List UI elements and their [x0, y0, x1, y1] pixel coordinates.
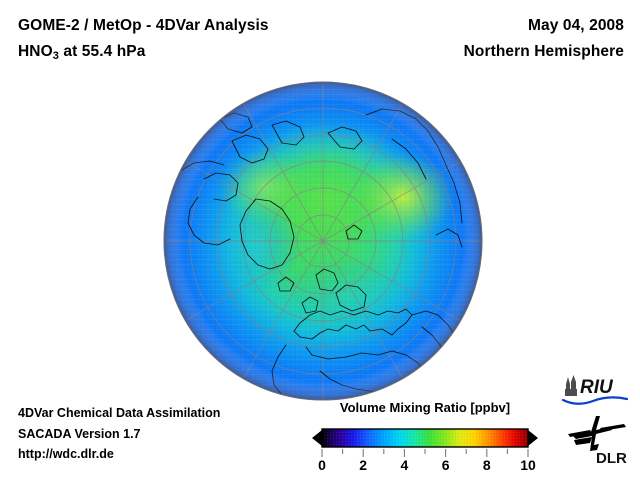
credit-line-project: 4DVar Chemical Data Assimilation	[18, 403, 220, 424]
dlr-mark-icon	[568, 416, 626, 451]
globe-svg	[160, 79, 486, 405]
colorbar-tick-label: 10	[520, 457, 536, 472]
credit-line-version: SACADA Version 1.7	[18, 424, 220, 445]
dlr-logo-svg: DLR	[566, 414, 630, 466]
colorbar-tick-label: 6	[442, 457, 450, 472]
colorbar-tick-label: 0	[318, 457, 326, 472]
footer-credits: 4DVar Chemical Data Assimilation SACADA …	[18, 403, 220, 465]
colorbar-tick-label: 4	[401, 457, 409, 472]
dlr-logo-text: DLR	[596, 450, 627, 466]
riu-logo-text: RIU	[580, 377, 614, 398]
species-formula-prefix: HNO	[18, 43, 53, 60]
globe-limb-shading	[164, 82, 482, 400]
colorbar-under-arrow	[312, 430, 322, 446]
colorbar-ticks	[322, 449, 528, 457]
cologne-cathedral-spires-icon	[565, 375, 577, 396]
colorbar-legend: Volume Mixing Ratio [ppbv]	[300, 400, 550, 477]
credit-line-url[interactable]: http://wdc.dlr.de	[18, 444, 220, 465]
colorbar-tick-label: 8	[483, 457, 491, 472]
date-label: May 04, 2008	[528, 17, 624, 35]
riu-wave-icon	[563, 397, 627, 403]
dlr-logo: DLR	[566, 414, 630, 471]
figure-canvas: GOME-2 / MetOp - 4DVar Analysis HNO3 at …	[0, 0, 640, 480]
riu-logo: RIU	[559, 372, 631, 413]
colorbar-dither	[322, 429, 528, 447]
species-level-suffix: at 55.4 hPa	[59, 43, 146, 60]
colorbar-svg[interactable]: 0 2 4 6 8 10	[300, 420, 550, 472]
globe-map	[160, 79, 486, 405]
region-label: Northern Hemisphere	[464, 43, 624, 61]
page-title: GOME-2 / MetOp - 4DVar Analysis	[18, 17, 269, 35]
colorbar-tick-label: 2	[359, 457, 367, 472]
colorbar-title: Volume Mixing Ratio [ppbv]	[300, 400, 550, 415]
species-level-label: HNO3 at 55.4 hPa	[18, 43, 145, 62]
colorbar-over-arrow	[528, 430, 538, 446]
riu-logo-svg: RIU	[559, 372, 631, 408]
